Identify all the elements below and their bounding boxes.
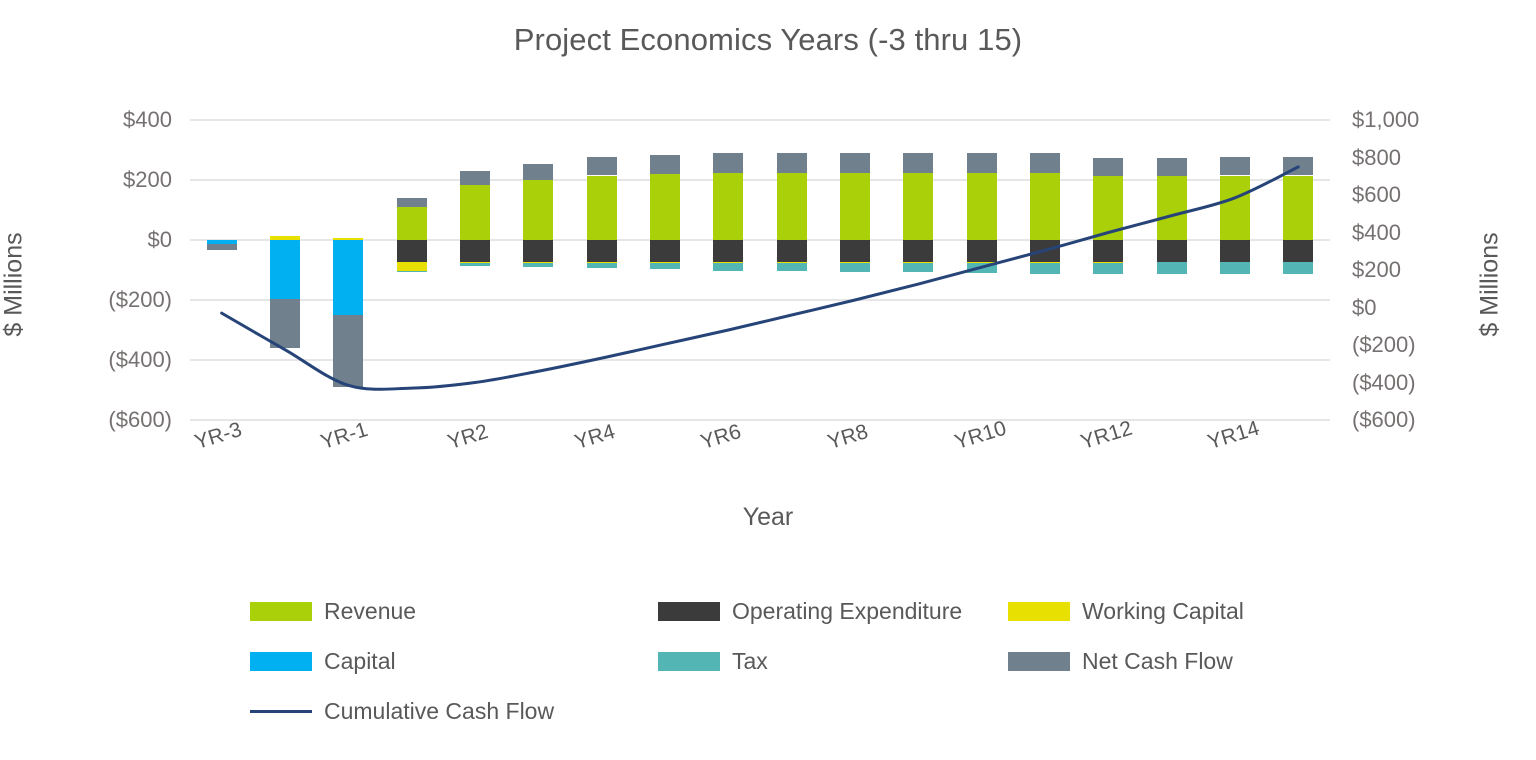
y-tick-right: ($200) [1352, 332, 1472, 358]
legend-swatch-revenue [250, 602, 312, 621]
legend-swatch-tax [658, 652, 720, 671]
chart-title: Project Economics Years (-3 thru 15) [0, 22, 1536, 58]
x-tick-yr10: YR10 [952, 417, 1009, 455]
legend-row: Revenue Operating Expenditure Working Ca… [250, 586, 1250, 636]
y-tick-right: ($400) [1352, 370, 1472, 396]
legend-swatch-capital [250, 652, 312, 671]
x-tick-yr2: YR2 [445, 420, 491, 455]
y-tick-left: ($600) [12, 407, 172, 433]
legend-label-operating-expenditure: Operating Expenditure [732, 598, 962, 625]
plot-area [190, 120, 1330, 420]
x-tick-yr-1: YR-1 [318, 418, 371, 455]
y-tick-left: ($400) [12, 347, 172, 373]
x-axis-label: Year [0, 503, 1536, 532]
legend-label-revenue: Revenue [324, 598, 416, 625]
x-tick-yr6: YR6 [698, 420, 744, 455]
x-tick-yr12: YR12 [1078, 417, 1135, 455]
x-tick-yr4: YR4 [572, 420, 618, 455]
legend-label-tax: Tax [732, 648, 768, 675]
y-tick-right: $1,000 [1352, 107, 1472, 133]
legend-item-operating-expenditure[interactable]: Operating Expenditure [658, 598, 1008, 625]
y-axis-label-right: $ Millions [1476, 232, 1505, 336]
x-tick-yr-3: YR-3 [192, 418, 245, 455]
y-tick-right: $400 [1352, 220, 1472, 246]
legend-row: Capital Tax Net Cash Flow [250, 636, 1250, 686]
legend-swatch-operating-expenditure [658, 602, 720, 621]
legend-item-working-capital[interactable]: Working Capital [1008, 598, 1244, 625]
legend-label-net-cash-flow: Net Cash Flow [1082, 648, 1233, 675]
legend-item-tax[interactable]: Tax [658, 648, 1008, 675]
chart-legend: Revenue Operating Expenditure Working Ca… [250, 586, 1250, 736]
y-tick-right: $0 [1352, 295, 1472, 321]
legend-item-revenue[interactable]: Revenue [250, 598, 658, 625]
legend-item-capital[interactable]: Capital [250, 648, 658, 675]
legend-swatch-cumulative-cash-flow [250, 702, 312, 721]
legend-item-cumulative-cash-flow[interactable]: Cumulative Cash Flow [250, 698, 658, 725]
y-tick-right: ($600) [1352, 407, 1472, 433]
y-tick-right: $600 [1352, 182, 1472, 208]
legend-label-capital: Capital [324, 648, 396, 675]
y-tick-left: $400 [12, 107, 172, 133]
legend-label-cumulative-cash-flow: Cumulative Cash Flow [324, 698, 554, 725]
legend-swatch-net-cash-flow [1008, 652, 1070, 671]
x-tick-yr8: YR8 [825, 420, 871, 455]
legend-item-net-cash-flow[interactable]: Net Cash Flow [1008, 648, 1233, 675]
legend-swatch-working-capital [1008, 602, 1070, 621]
y-tick-left: $0 [12, 227, 172, 253]
cumulative-cash-flow-line [190, 120, 1330, 420]
y-tick-left: $200 [12, 167, 172, 193]
line-path-cumulative-cash-flow [222, 167, 1299, 389]
x-tick-yr14: YR14 [1205, 417, 1262, 455]
y-tick-left: ($200) [12, 287, 172, 313]
legend-row: Cumulative Cash Flow [250, 686, 1250, 736]
y-tick-right: $800 [1352, 145, 1472, 171]
legend-label-working-capital: Working Capital [1082, 598, 1244, 625]
y-tick-right: $200 [1352, 257, 1472, 283]
